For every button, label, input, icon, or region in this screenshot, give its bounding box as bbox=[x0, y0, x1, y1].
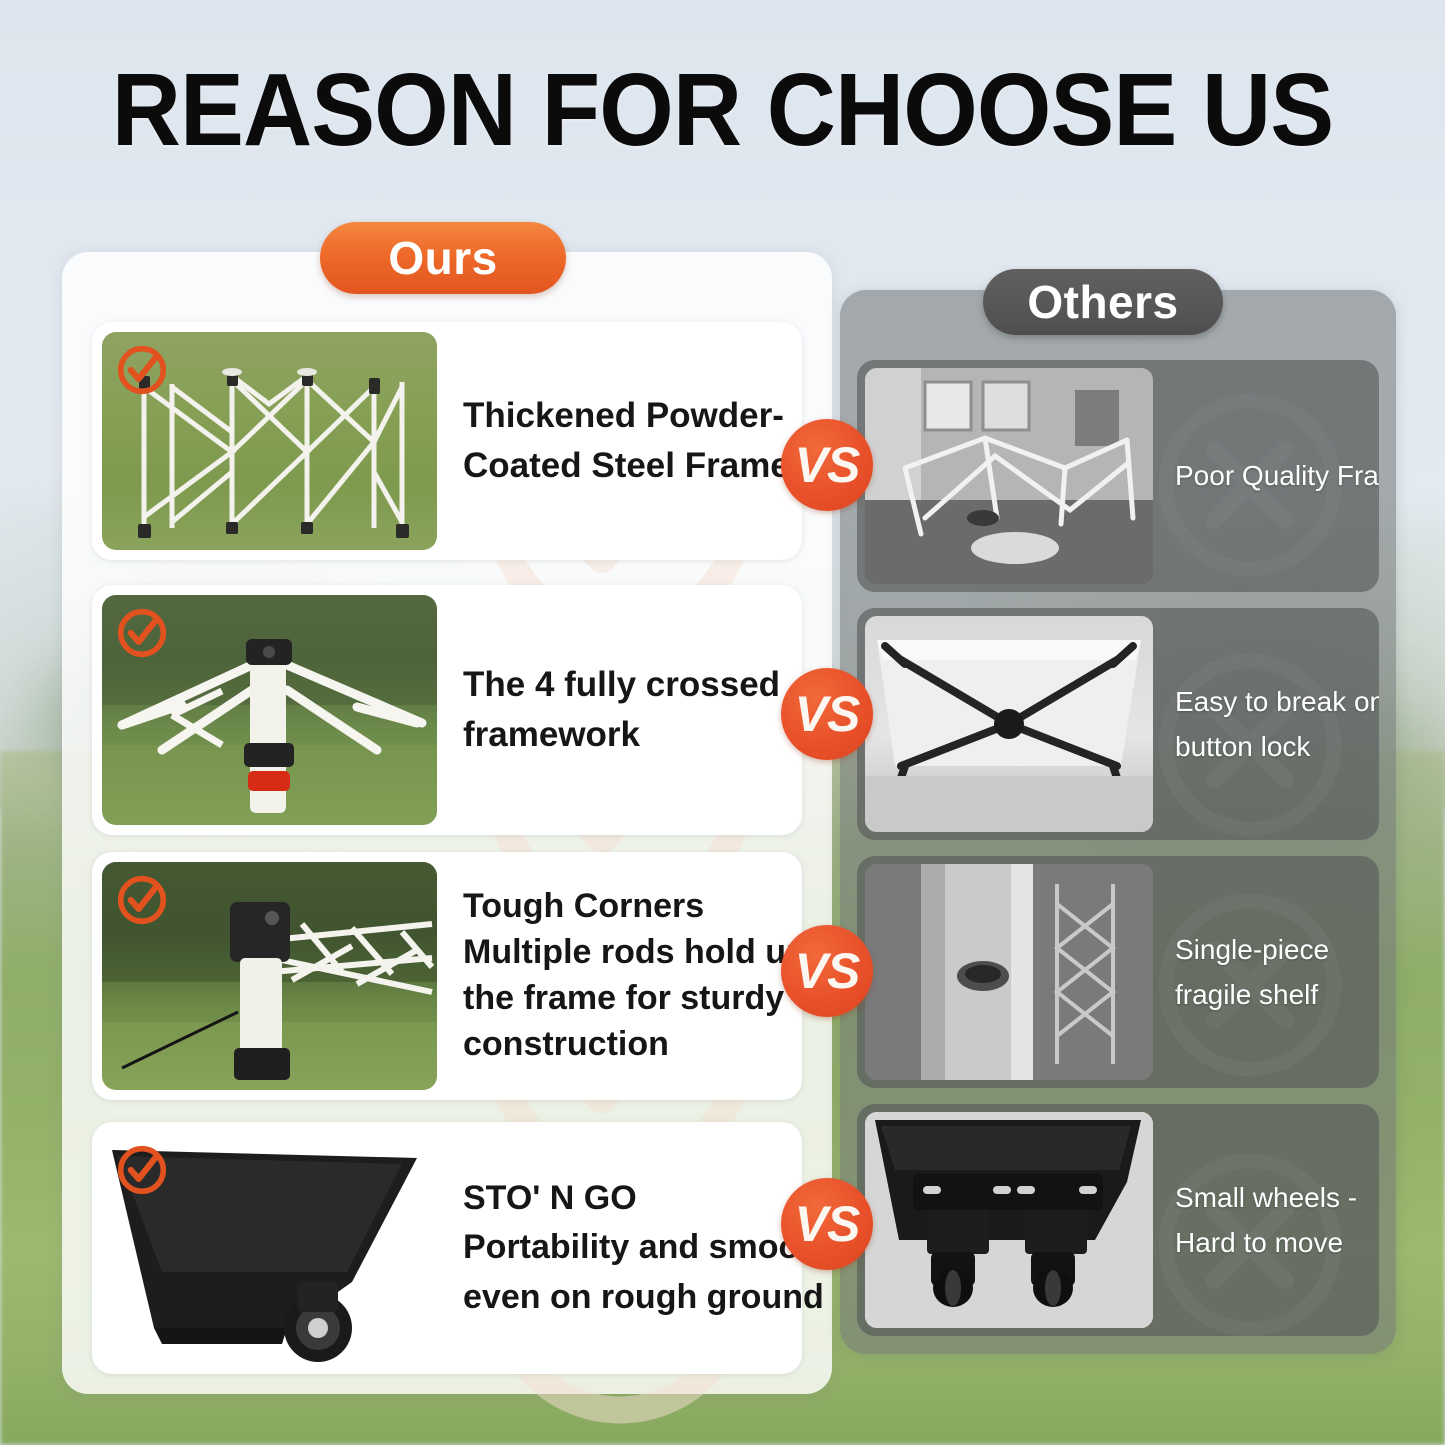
ours-row-card: STO' N GO Portability and smooth even on… bbox=[92, 1122, 802, 1374]
ours-feature-line: STO' N GO bbox=[463, 1174, 831, 1223]
page-title: REASON FOR CHOOSE US bbox=[51, 58, 1395, 161]
vs-label: VS bbox=[795, 1195, 860, 1253]
vs-label: VS bbox=[795, 685, 860, 743]
thin-pole-single-shelf-photo bbox=[865, 864, 1153, 1080]
others-drawback-line: Poor Quality Frame bbox=[1175, 453, 1379, 498]
ours-feature-line: even on rough ground bbox=[463, 1273, 831, 1322]
others-row-card: Poor Quality Frame bbox=[857, 360, 1379, 592]
ours-feature-line: The 4 fully crossed bbox=[463, 660, 788, 710]
ours-feature-line: framework bbox=[463, 710, 788, 760]
rolling-storage-bag-large-wheel-photo bbox=[102, 1132, 437, 1364]
others-column-badge: Others bbox=[983, 269, 1223, 335]
ours-feature-text: STO' N GO Portability and smooth even on… bbox=[437, 1174, 845, 1322]
check-circle-icon bbox=[114, 605, 170, 661]
ours-row-card: Thickened Powder- Coated Steel Frame bbox=[92, 322, 802, 560]
ours-column-label: Ours bbox=[388, 231, 497, 285]
others-drawback-text: Poor Quality Frame bbox=[1153, 453, 1379, 498]
storage-bag-small-wheels-photo bbox=[865, 1112, 1153, 1328]
ours-feature-line: construction bbox=[463, 1022, 807, 1068]
check-circle-icon bbox=[114, 342, 170, 398]
ours-feature-line: Multiple rods hold up bbox=[463, 930, 807, 976]
ours-column-badge: Ours bbox=[320, 222, 566, 294]
ours-row-card: The 4 fully crossed framework bbox=[92, 585, 802, 835]
others-drawback-text: Easy to break one button lock bbox=[1153, 679, 1379, 770]
others-drawback-line: Hard to move bbox=[1175, 1220, 1369, 1265]
others-drawback-text: Small wheels - Hard to move bbox=[1153, 1175, 1379, 1266]
others-row-card: Small wheels - Hard to move bbox=[857, 1104, 1379, 1336]
vs-badge: VS bbox=[781, 668, 873, 760]
others-row-card: Easy to break one button lock bbox=[857, 608, 1379, 840]
ours-feature-text: Tough Corners Multiple rods hold up the … bbox=[437, 884, 821, 1068]
ours-feature-text: The 4 fully crossed framework bbox=[437, 660, 802, 759]
vs-label: VS bbox=[795, 942, 860, 1000]
others-drawback-line: button lock bbox=[1175, 724, 1379, 769]
vs-badge: VS bbox=[781, 925, 873, 1017]
vs-label: VS bbox=[795, 436, 860, 494]
others-drawback-line: Small wheels - bbox=[1175, 1175, 1369, 1220]
ours-feature-line: Coated Steel Frame bbox=[463, 441, 790, 491]
others-drawback-text: Single-piece fragile shelf bbox=[1153, 927, 1379, 1018]
vs-badge: VS bbox=[781, 1178, 873, 1270]
check-circle-icon bbox=[114, 872, 170, 928]
canopy-frame-on-grass-photo bbox=[102, 332, 437, 550]
single-cross-canopy-underside-photo bbox=[865, 616, 1153, 832]
others-row-card: Single-piece fragile shelf bbox=[857, 856, 1379, 1088]
others-column-label: Others bbox=[1027, 275, 1178, 329]
check-circle-icon bbox=[114, 1142, 170, 1198]
ours-feature-line: the frame for sturdy bbox=[463, 976, 807, 1022]
ours-feature-text: Thickened Powder- Coated Steel Frame bbox=[437, 391, 804, 490]
ours-feature-line: Portability and smooth bbox=[463, 1223, 831, 1272]
others-drawback-line: Single-piece bbox=[1175, 927, 1369, 972]
vs-badge: VS bbox=[781, 419, 873, 511]
ours-feature-line: Thickened Powder- bbox=[463, 391, 790, 441]
ours-feature-line: Tough Corners bbox=[463, 884, 807, 930]
ours-row-card: Tough Corners Multiple rods hold up the … bbox=[92, 852, 802, 1100]
crossed-framework-joint-photo bbox=[102, 595, 437, 825]
collapsed-frame-by-house-photo bbox=[865, 368, 1153, 584]
corner-bracket-multiple-rods-photo bbox=[102, 862, 437, 1090]
others-drawback-line: fragile shelf bbox=[1175, 972, 1369, 1017]
others-drawback-line: Easy to break one bbox=[1175, 679, 1379, 724]
